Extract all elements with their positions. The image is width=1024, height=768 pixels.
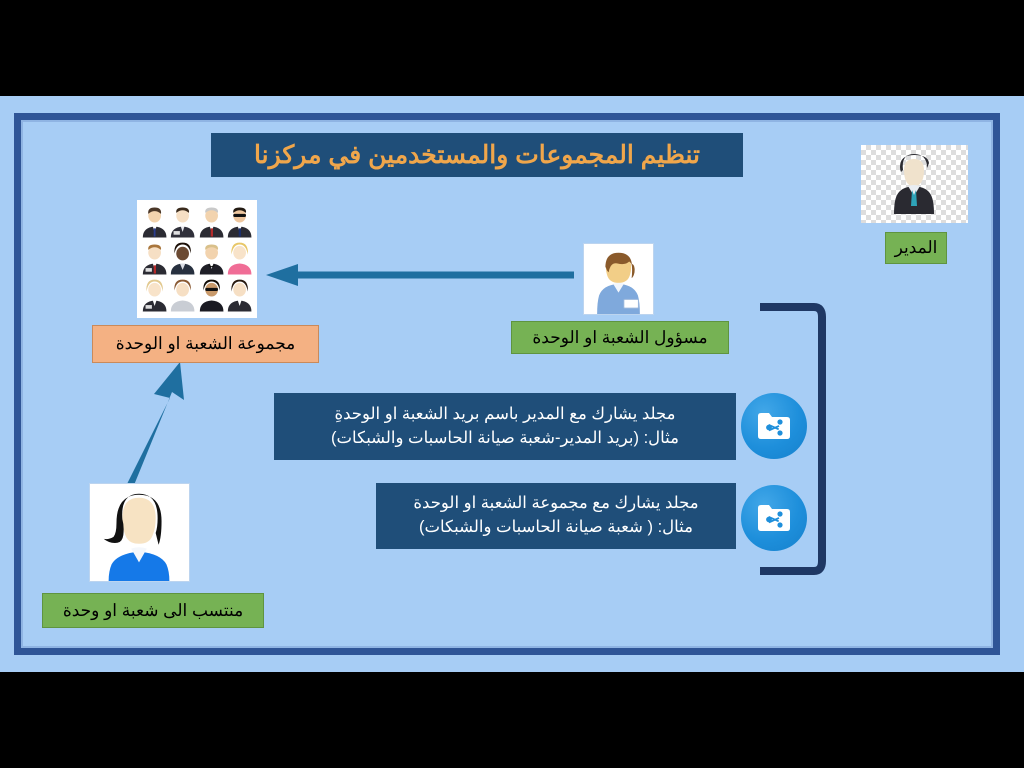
people-group-icon xyxy=(226,204,253,240)
unit-officer-label: مسؤول الشعبة او الوحدة xyxy=(511,321,729,354)
screenshot-canvas: تنظيم المجموعات والمستخدمين في مركزنا xyxy=(0,0,1024,768)
page-title: تنظيم المجموعات والمستخدمين في مركزنا xyxy=(254,140,700,170)
panel-line-2: مثال: ( شعبة صيانة الحاسبات والشبكات) xyxy=(419,516,693,540)
people-group-icon xyxy=(226,278,253,314)
letterbox-bottom xyxy=(0,672,1024,768)
unit-member-label: منتسب الى شعبة او وحدة xyxy=(42,593,264,628)
people-group-image xyxy=(137,200,257,318)
letterbox-top xyxy=(0,0,1024,96)
people-group-icon xyxy=(169,278,196,314)
unit-officer-avatar xyxy=(583,243,654,315)
arrow-up-right-icon xyxy=(118,358,188,490)
panel-line-1: مجلد يشارك مع المدير باسم بريد الشعبة او… xyxy=(335,403,676,427)
arrow-left-icon xyxy=(262,262,574,288)
group-shared-folder-panel: مجلد يشارك مع مجموعة الشعبة او الوحدة مث… xyxy=(376,483,736,549)
unit-group-label: مجموعة الشعبة او الوحدة xyxy=(92,325,319,363)
people-group-icon xyxy=(141,241,168,277)
manager-avatar xyxy=(861,145,968,223)
shared-folder-icon[interactable] xyxy=(741,393,807,459)
people-group-icon xyxy=(198,241,225,277)
panel-line-1: مجلد يشارك مع مجموعة الشعبة او الوحدة xyxy=(413,492,698,516)
people-group-icon xyxy=(141,204,168,240)
people-group-icon xyxy=(169,204,196,240)
people-group-icon xyxy=(198,204,225,240)
manager-label: المدير xyxy=(885,232,947,264)
people-group-icon xyxy=(198,278,225,314)
people-group-icon xyxy=(169,241,196,277)
shared-folder-icon[interactable] xyxy=(741,485,807,551)
people-group-icon xyxy=(226,241,253,277)
unit-member-avatar xyxy=(89,483,190,582)
people-group-icon xyxy=(141,278,168,314)
slide-title-banner: تنظيم المجموعات والمستخدمين في مركزنا xyxy=(211,133,743,177)
panel-line-2: مثال: (بريد المدير-شعبة صيانة الحاسبات و… xyxy=(331,427,679,451)
manager-mail-folder-panel: مجلد يشارك مع المدير باسم بريد الشعبة او… xyxy=(274,393,736,460)
